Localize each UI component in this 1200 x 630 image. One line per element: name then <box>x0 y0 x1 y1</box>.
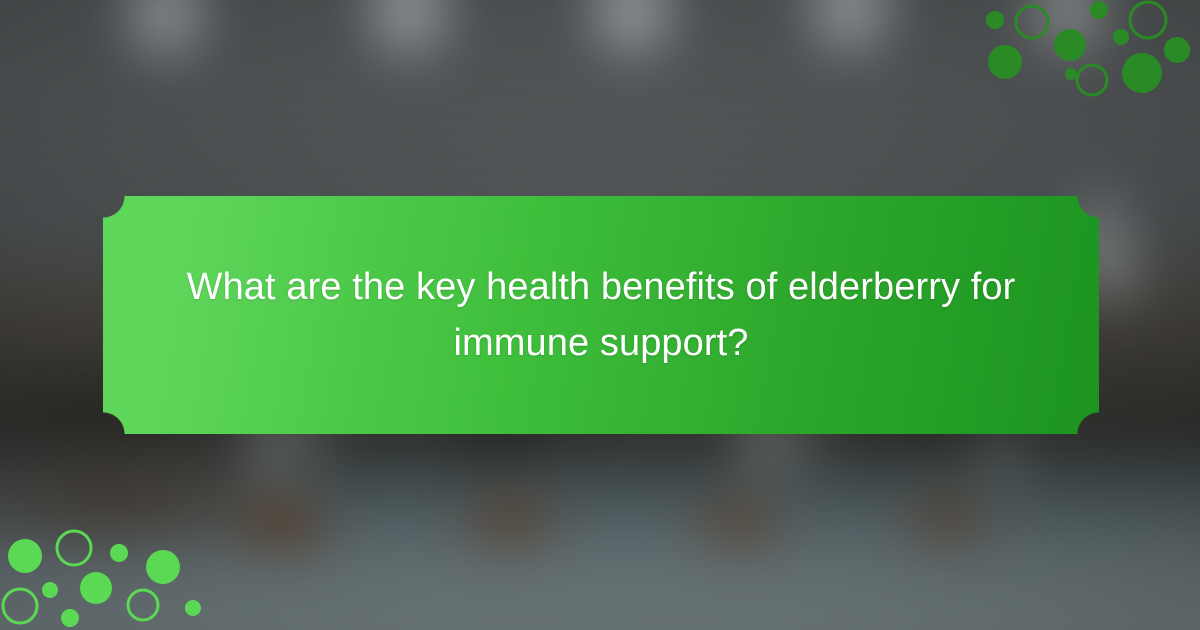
banner-question-title: What are the key health benefits of elde… <box>163 259 1039 371</box>
promo-card: What are the key health benefits of elde… <box>0 0 1200 630</box>
question-banner: What are the key health benefits of elde… <box>103 196 1099 434</box>
